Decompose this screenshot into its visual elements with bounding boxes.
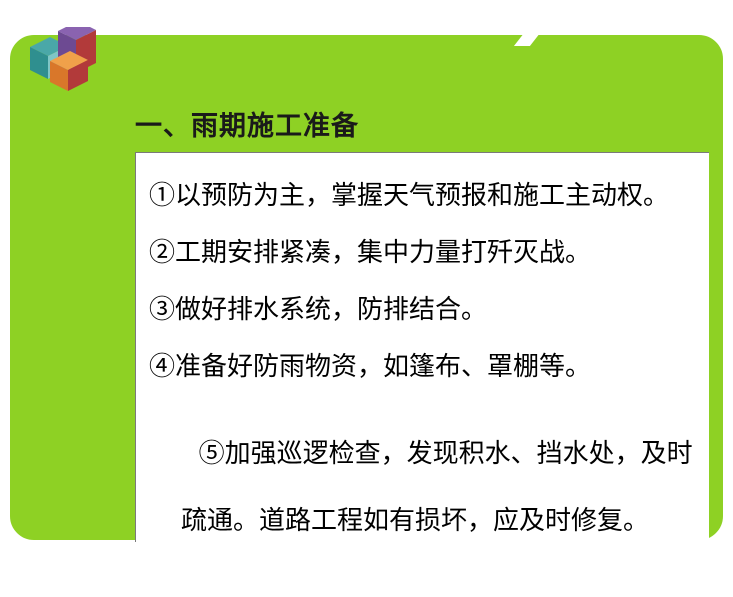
cube-blocks-logo bbox=[28, 27, 106, 93]
page-title: 一、雨期施工准备 bbox=[135, 104, 359, 143]
list-item-line-2: 疏通。道路工程如有损坏，应及时修复。 bbox=[149, 500, 693, 537]
list-item: ④准备好防雨物资，如篷布、罩棚等。 bbox=[149, 346, 591, 383]
slide-canvas: 一、雨期施工准备 ①以预防为主，掌握天气预报和施工主动权。 ②工期安排紧凑，集中… bbox=[0, 0, 733, 551]
list-item: ③做好排水系统，防排结合。 bbox=[149, 289, 487, 326]
list-item: ①以预防为主，掌握天气预报和施工主动权。 bbox=[149, 175, 669, 212]
list-item: ⑤加强巡逻检查，发现积水、挡水处，及时 疏通。道路工程如有损坏，应及时修复。 bbox=[149, 403, 693, 597]
list-item-line-1: ⑤加强巡逻检查，发现积水、挡水处，及时 bbox=[199, 439, 693, 469]
content-box: ①以预防为主，掌握天气预报和施工主动权。 ②工期安排紧凑，集中力量打歼灭战。 ③… bbox=[135, 152, 709, 542]
list-item: ②工期安排紧凑，集中力量打歼灭战。 bbox=[149, 232, 591, 269]
